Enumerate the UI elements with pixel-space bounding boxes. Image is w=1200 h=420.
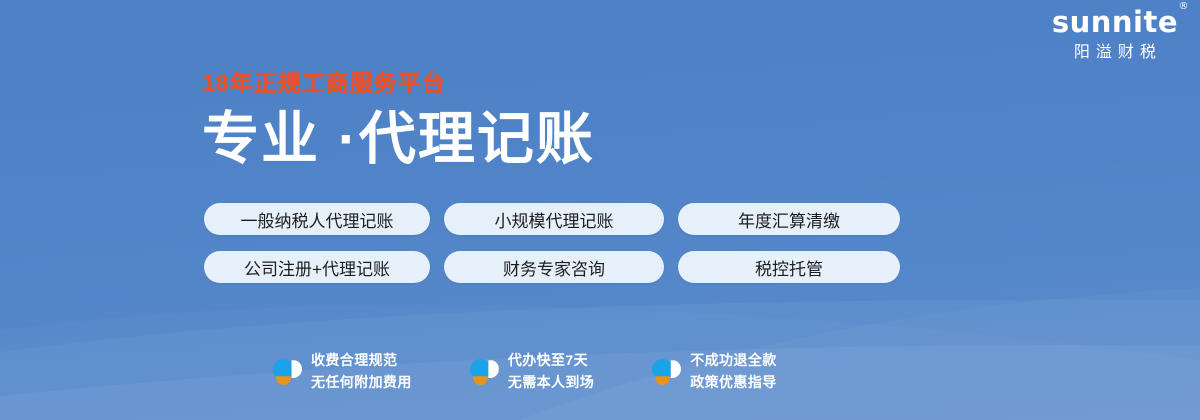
feature-line-2: 无需本人到场: [508, 372, 594, 394]
blue-orange-crescent-icon: [469, 356, 499, 387]
feature-line-1: 不成功退全款: [690, 350, 776, 372]
registered-trademark-icon: ®: [1179, 2, 1190, 12]
logo-wordmark-text: sunnite: [1052, 5, 1178, 39]
service-pill-grid: 一般纳税人代理记账 小规模代理记账 年度汇算清缴 公司注册+代理记账 财务专家咨…: [204, 203, 900, 283]
blue-orange-crescent-icon: [272, 356, 302, 387]
hero-banner: sunnite ® 阳溢财税 18年正规工商服务平台 专业 ·代理记账 一般纳税…: [0, 0, 1200, 420]
feature-text: 不成功退全款 政策优惠指导: [690, 350, 776, 393]
feature-item: 收费合理规范 无任何附加费用: [272, 350, 412, 393]
service-pill[interactable]: 小规模代理记账: [444, 203, 664, 235]
feature-text: 代办快至7天 无需本人到场: [508, 350, 594, 393]
feature-text: 收费合理规范 无任何附加费用: [311, 350, 412, 393]
brand-logo[interactable]: sunnite ® 阳溢财税: [1052, 8, 1178, 61]
feature-line-1: 收费合理规范: [311, 350, 412, 372]
logo-wordmark: sunnite ®: [1052, 8, 1178, 37]
feature-line-2: 政策优惠指导: [690, 372, 776, 394]
page-title: 专业 ·代理记账: [202, 108, 595, 171]
feature-strip: 收费合理规范 无任何附加费用 代办快至7天 无需本人到场 不成功退全款: [272, 350, 777, 393]
headline-block: 18年正规工商服务平台 专业 ·代理记账: [202, 70, 595, 171]
service-pill[interactable]: 一般纳税人代理记账: [204, 203, 430, 235]
feature-line-2: 无任何附加费用: [311, 372, 412, 394]
logo-chinese-name: 阳溢财税: [1052, 45, 1178, 61]
feature-item: 不成功退全款 政策优惠指导: [651, 350, 776, 393]
eyebrow-text: 18年正规工商服务平台: [202, 70, 595, 96]
blue-orange-crescent-icon: [651, 356, 681, 387]
feature-line-1: 代办快至7天: [508, 350, 594, 372]
service-pill[interactable]: 公司注册+代理记账: [204, 251, 430, 283]
service-pill[interactable]: 税控托管: [678, 251, 900, 283]
feature-item: 代办快至7天 无需本人到场: [469, 350, 594, 393]
service-pill[interactable]: 财务专家咨询: [444, 251, 664, 283]
service-pill[interactable]: 年度汇算清缴: [678, 203, 900, 235]
